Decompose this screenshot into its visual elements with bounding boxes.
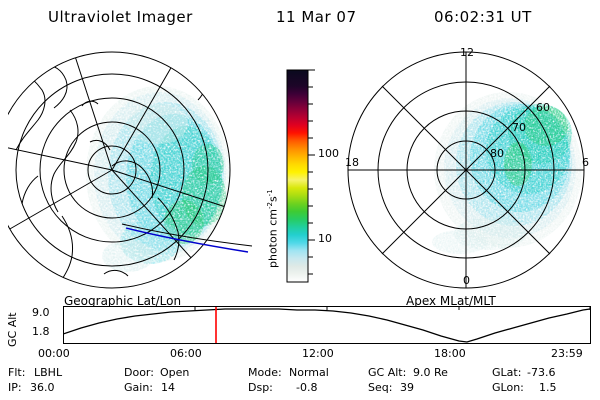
orbit-xtick-1200: 12:00 [302,347,334,360]
apex-graticule [348,52,584,288]
colorbar-label-sup1: -2 [266,202,274,209]
orbit-xtick-0000: 00:00 [38,347,70,360]
orbit-xtick-2359: 23:59 [551,347,583,360]
gcalt-label: GC Alt: [368,366,406,379]
colorbar-label-sup2: -1 [266,189,274,196]
apex-panel [340,46,592,294]
door-value: Open [160,366,189,379]
gain-value: 14 [161,381,175,394]
gain-label: Gain: [124,381,153,394]
door-label: Door: [124,366,154,379]
observation-date: 11 Mar 07 [276,8,357,26]
mlt-label-6: 6 [582,156,589,169]
glon-value: 1.5 [539,381,557,394]
colorbar-tick-10: 10 [318,232,332,245]
gcalt-value: 9.0 Re [413,366,448,379]
status-row-1: Flt: LBHL Door: Open Mode: Normal GC Alt… [8,366,596,381]
dsp-value: -0.8 [296,381,317,394]
status-footer: Flt: LBHL Door: Open Mode: Normal GC Alt… [8,366,596,396]
flt-label: Flt: [8,366,25,379]
orbit-track-plot [63,306,591,344]
orbit-ytick-low: 1.8 [32,325,50,338]
glat-value: -73.6 [527,366,555,379]
mlt-label-12: 12 [460,46,474,59]
mode-label: Mode: [248,366,282,379]
glon-label: GLon: [492,381,524,394]
observation-time: 06:02:31 UT [434,8,532,26]
dsp-label: Dsp: [248,381,273,394]
orbit-ytick-high: 9.0 [32,306,50,319]
colorbar-label-main: photon cm [267,209,280,268]
mlat-label-60: 60 [536,101,550,114]
mlt-label-0: 0 [463,274,470,287]
aurora-emission-apex [432,92,582,254]
colorbar-label-mid: s [267,196,280,202]
mlat-label-70: 70 [512,121,526,134]
orbit-xtick-1800: 18:00 [434,347,466,360]
ip-label: IP: [8,381,22,394]
geographic-panel [8,46,266,294]
mode-value: Normal [289,366,329,379]
ip-value: 36.0 [30,381,55,394]
flt-value: LBHL [34,366,62,379]
seq-value: 39 [400,381,414,394]
aurora-emission-geographic [86,86,230,272]
mlt-label-18: 18 [345,156,359,169]
seq-label: Seq: [368,381,392,394]
orbit-xtick-0600: 06:00 [170,347,202,360]
mlat-label-80: 80 [490,147,504,160]
status-row-2: IP: 36.0 Gain: 14 Dsp: -0.8 Seq: 39 GLon… [8,381,596,396]
uvi-display: Ultraviolet Imager 11 Mar 07 06:02:31 UT [0,0,600,400]
colorbar-tick-100: 100 [318,147,339,160]
glat-label: GLat: [492,366,521,379]
instrument-title: Ultraviolet Imager [48,8,193,26]
